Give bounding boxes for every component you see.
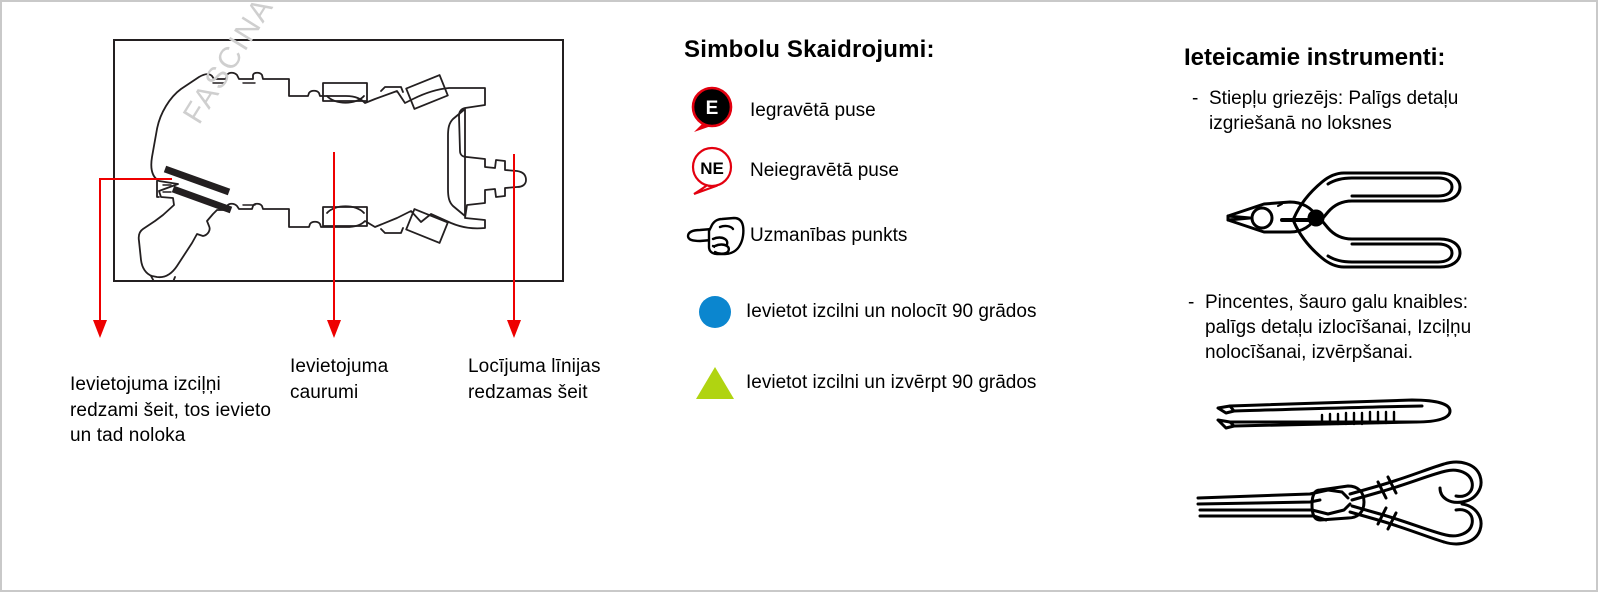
symbols-legend-panel: Simbolu Skaidrojumi: E Iegravētā puse NE [662,2,1132,432]
callout-label-fold-lines: Locījuma līnijas redzamas šeit [468,354,638,405]
symbols-legend-title: Simbolu Skaidrojumi: [684,36,935,64]
legend-label-twist-90: Ievietot izcilni un izvērpt 90 grādos [746,372,1036,394]
blue-circle-icon [684,296,746,328]
needle-nose-pliers-icon [1192,450,1492,560]
callout-label-insert-holes: Ievietojuma caurumi [290,354,460,405]
pointing-hand-icon [684,214,750,258]
non-engraved-side-bubble-icon: NE [684,145,750,197]
legend-row-attention: Uzmanības punkts [684,210,1114,262]
diagram-panel: FASCINATIONS FASCINATIONS Ievietojuma [2,2,642,522]
legend-label-non-engraved: Neiegravētā puse [750,160,899,182]
wire-cutter-icon [1220,160,1470,276]
legend-label-engraved: Iegravētā puse [750,100,876,122]
recommended-tools-title: Ieteicamie instrumenti: [1184,44,1445,72]
instruction-sheet-page: FASCINATIONS FASCINATIONS Ievietojuma [0,0,1598,592]
blue-circle-shape [699,296,731,328]
green-triangle-shape [696,367,734,399]
legend-label-attention: Uzmanības punkts [750,225,907,247]
recommended-tools-panel: Ieteicamie instrumenti: - Stiepļu griezē… [1172,2,1598,582]
callout-label-insert-tabs: Ievietojuma izciļņi redzami šeit, tos ie… [70,372,275,449]
legend-row-non-engraved: NE Neiegravētā puse [684,145,1114,197]
callout-leader-lines [62,152,582,372]
legend-row-engraved: E Iegravētā puse [684,85,1114,137]
bullet-dash: - [1192,86,1198,111]
tool-text-tweezers-pliers: Pincentes, šauro galu knaibles: palīgs d… [1188,290,1518,365]
engraved-badge-text: E [706,98,719,119]
tool-description-tweezers-pliers: - Pincentes, šauro galu knaibles: palīgs… [1188,290,1518,365]
green-triangle-icon [684,367,746,399]
legend-row-fold-90: Ievietot izcilni un nolocīt 90 grādos [684,289,1114,335]
tool-description-wire-cutter: - Stiepļu griezējs: Palīgs detaļu izgrie… [1192,86,1522,136]
non-engraved-badge-text: NE [700,159,724,178]
tool-text-wire-cutter: Stiepļu griezējs: Palīgs detaļu izgrieša… [1192,86,1522,136]
legend-row-twist-90: Ievietot izcilni un izvērpt 90 grādos [684,360,1114,406]
tweezers-icon [1212,390,1482,442]
engraved-side-bubble-icon: E [684,85,750,137]
bullet-dash-2: - [1188,290,1194,315]
legend-label-fold-90: Ievietot izcilni un nolocīt 90 grādos [746,301,1036,323]
